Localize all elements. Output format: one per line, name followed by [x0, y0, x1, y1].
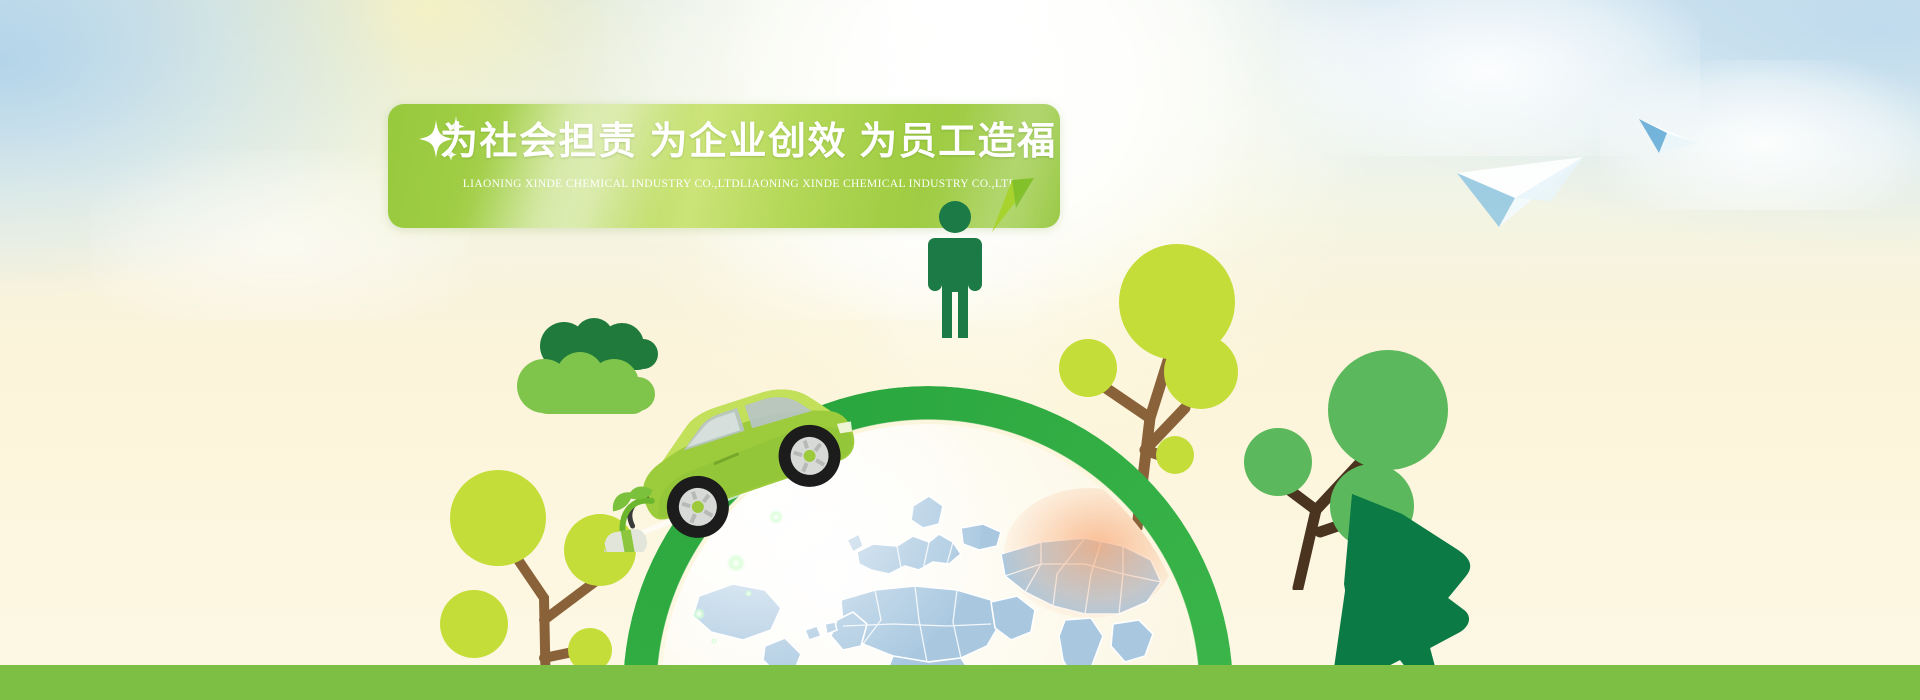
headline-title: 为社会担责 为企业创效 为员工造福 — [440, 116, 1040, 168]
speech-bubble-tail-icon — [982, 178, 1036, 234]
person-pictogram-icon — [920, 200, 990, 340]
paper-plane-small-icon — [1637, 115, 1699, 155]
ground-strip — [0, 665, 1920, 700]
headline-subtitle: LIAONING XINDE CHEMICAL INDUSTRY CO.,LTD… — [432, 178, 1048, 190]
electric-car-icon — [604, 372, 874, 552]
company-culture-banner: 为社会担责 为企业创效 为员工造福 LIAONING XINDE CHEMICA… — [0, 0, 1920, 700]
paper-plane-large-icon — [1455, 155, 1585, 230]
